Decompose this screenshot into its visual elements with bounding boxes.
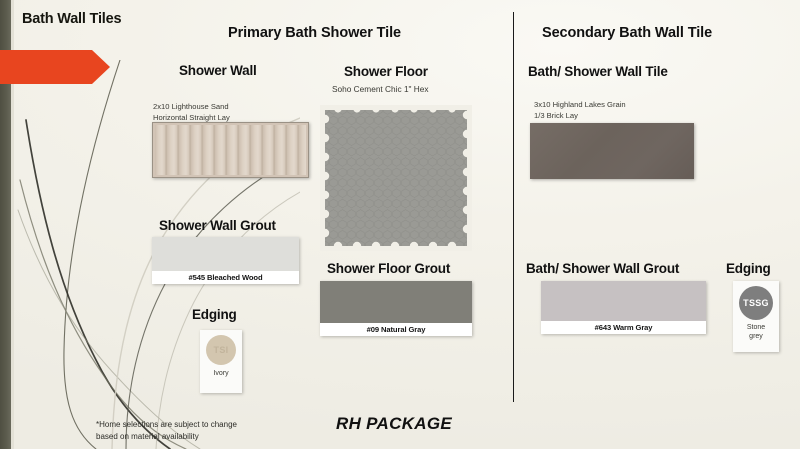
spec-shower-floor: Soho Cement Chic 1" Hex xyxy=(332,84,429,95)
shower-floor-grout-code: #09 Natural Gray xyxy=(320,323,472,336)
shower-wall-tile-swatch[interactable] xyxy=(152,122,309,178)
edging-secondary-caption: Stone grey xyxy=(747,323,765,341)
edging-primary-swatch[interactable]: TSI Ivory xyxy=(200,330,242,393)
orange-arrow-banner xyxy=(0,48,110,86)
tile-selection-slide: Bath Wall Tiles Primary Bath Shower Tile… xyxy=(0,0,800,449)
secondary-wall-tile-swatch[interactable] xyxy=(530,123,694,179)
edging-secondary-code: TSSG xyxy=(739,286,773,320)
page-title: Bath Wall Tiles xyxy=(22,11,121,27)
spec-bath-shower-wall-tile: 3x10 Highland Lakes Grain 1/3 Brick Lay xyxy=(534,99,626,121)
package-title: RH PACKAGE xyxy=(336,414,452,434)
bath-shower-wall-grout-swatch[interactable]: #643 Warm Gray xyxy=(541,281,706,334)
shower-wall-tile-texture xyxy=(155,125,306,175)
section-title-edging-primary: Edging xyxy=(192,307,237,322)
disclaimer-text: *Home selections are subject to change b… xyxy=(96,419,237,443)
section-title-edging-secondary: Edging xyxy=(726,261,771,276)
section-title-shower-floor-grout: Shower Floor Grout xyxy=(327,261,450,276)
primary-column-heading: Primary Bath Shower Tile xyxy=(228,25,401,41)
shower-wall-grout-code: #545 Bleached Wood xyxy=(152,271,299,284)
section-title-shower-floor: Shower Floor xyxy=(344,64,428,79)
shower-wall-grout-swatch[interactable]: #545 Bleached Wood xyxy=(152,237,299,284)
edging-primary-code: TSI xyxy=(206,335,236,365)
shower-floor-tile-swatch[interactable] xyxy=(320,105,472,251)
shower-floor-grout-swatch[interactable]: #09 Natural Gray xyxy=(320,281,472,336)
secondary-column-heading: Secondary Bath Wall Tile xyxy=(542,25,712,41)
section-title-bath-shower-wall-tile: Bath/ Shower Wall Tile xyxy=(528,64,668,79)
section-title-shower-wall-grout: Shower Wall Grout xyxy=(159,218,276,233)
spec-shower-wall: 2x10 Lighthouse Sand Horizontal Straight… xyxy=(153,101,230,123)
edging-primary-caption: Ivory xyxy=(213,369,228,378)
column-divider xyxy=(513,12,514,402)
edging-secondary-swatch[interactable]: TSSG Stone grey xyxy=(733,281,779,352)
section-title-bath-shower-wall-grout: Bath/ Shower Wall Grout xyxy=(526,261,679,276)
bath-shower-wall-grout-code: #643 Warm Gray xyxy=(541,321,706,334)
section-title-shower-wall: Shower Wall xyxy=(179,63,257,78)
